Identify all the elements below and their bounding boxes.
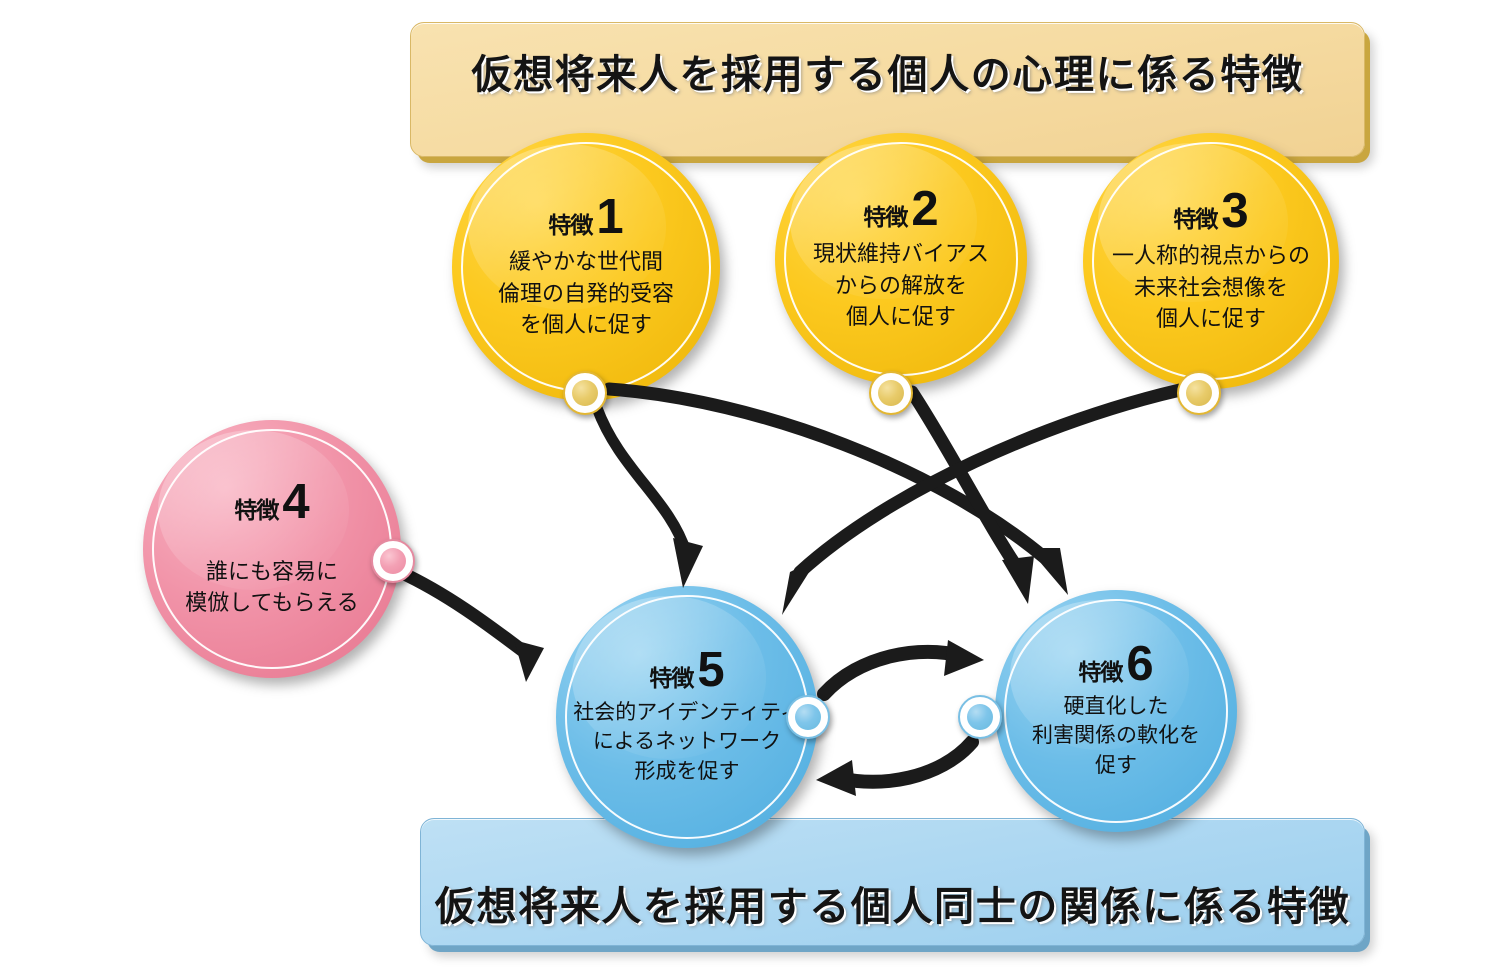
connector-knob-node-4[interactable]	[371, 539, 415, 583]
node-feature-6-line-2: 利害関係の軟化を	[1032, 721, 1200, 751]
banner-relationship: 仮想将来人を採用する個人同士の関係に係る特徴	[420, 818, 1365, 946]
node-feature-3-number: 3	[1221, 188, 1248, 235]
node-feature-6[interactable]: 特徴 6 硬直化した 利害関係の軟化を 促す	[995, 590, 1237, 832]
connector-knob-node-6[interactable]	[958, 695, 1002, 739]
connector-knob-node-3[interactable]	[1177, 371, 1221, 415]
node-feature-2-line-3: 個人に促す	[813, 301, 989, 332]
arrow-6-to-5	[816, 742, 972, 796]
node-feature-6-keyword: 特徴	[1078, 653, 1122, 687]
connector-knob-node-6-core	[967, 704, 993, 730]
node-feature-4-number: 4	[282, 479, 309, 526]
node-feature-3-heading: 特徴 3	[1173, 188, 1248, 235]
node-feature-5-line-2: によるネットワーク	[573, 727, 800, 757]
arrow-1-to-6	[609, 389, 1068, 595]
node-feature-1-line-1: 緩やかな世代間	[498, 246, 674, 277]
node-feature-1-line-2: 倫理の自発的受容	[498, 278, 674, 309]
node-feature-2[interactable]: 特徴 2 現状維持バイアス からの解放を 個人に促す	[775, 133, 1027, 385]
arrow-4-to-5	[400, 572, 544, 682]
node-feature-2-number: 2	[911, 186, 938, 233]
arrow-5-to-6	[824, 640, 984, 694]
connector-knob-node-1[interactable]	[563, 371, 607, 415]
node-feature-5-line-1: 社会的アイデンティティ	[573, 698, 800, 728]
node-feature-3-body: 一人称的視点からの 未来社会想像を 個人に促す	[1102, 240, 1320, 334]
connector-knob-node-3-core	[1186, 380, 1212, 406]
banner-psychology-label: 仮想将来人を採用する個人の心理に係る特徴	[472, 42, 1304, 138]
node-feature-5-body: 社会的アイデンティティ によるネットワーク 形成を促す	[563, 698, 810, 787]
node-feature-1-number: 1	[596, 194, 623, 241]
node-feature-4-line-2: 模倣してもらえる	[185, 587, 359, 618]
node-feature-2-keyword: 特徴	[863, 198, 907, 232]
connector-knob-node-2[interactable]	[869, 371, 913, 415]
node-feature-4[interactable]: 特徴 4 誰にも容易に 模倣してもらえる	[143, 420, 401, 678]
node-feature-3-line-2: 未来社会想像を	[1112, 272, 1310, 303]
node-feature-3-line-1: 一人称的視点からの	[1112, 240, 1310, 271]
node-feature-5-keyword: 特徴	[649, 659, 693, 693]
node-feature-6-line-1: 硬直化した	[1032, 692, 1200, 722]
node-feature-3-line-3: 個人に促す	[1112, 303, 1310, 334]
connector-knob-node-5[interactable]	[786, 695, 830, 739]
node-feature-5-number: 5	[697, 647, 724, 694]
node-feature-3-keyword: 特徴	[1173, 200, 1217, 234]
arrow-3-to-5	[782, 390, 1180, 615]
node-feature-2-line-1: 現状維持バイアス	[813, 238, 989, 269]
node-feature-6-heading: 特徴 6	[1078, 641, 1153, 688]
node-feature-3[interactable]: 特徴 3 一人称的視点からの 未来社会想像を 個人に促す	[1083, 133, 1339, 389]
node-feature-1-line-3: を個人に促す	[498, 309, 674, 340]
node-feature-5[interactable]: 特徴 5 社会的アイデンティティ によるネットワーク 形成を促す	[556, 586, 818, 848]
connector-knob-node-4-core	[380, 548, 406, 574]
node-feature-4-keyword: 特徴	[234, 491, 278, 525]
connector-knob-node-5-core	[795, 704, 821, 730]
arrow-2-to-6	[912, 392, 1034, 604]
node-feature-4-line-1: 誰にも容易に	[185, 556, 359, 587]
node-feature-1-body: 緩やかな世代間 倫理の自発的受容 を個人に促す	[488, 246, 684, 340]
node-feature-2-heading: 特徴 2	[863, 186, 938, 233]
arrow-1-to-5	[597, 408, 703, 588]
node-feature-6-line-3: 促す	[1032, 751, 1200, 781]
node-feature-5-line-3: 形成を促す	[573, 757, 800, 787]
connector-knob-node-2-core	[878, 380, 904, 406]
node-feature-5-heading: 特徴 5	[649, 647, 724, 694]
node-feature-1-heading: 特徴 1	[548, 194, 623, 241]
node-feature-1[interactable]: 特徴 1 緩やかな世代間 倫理の自発的受容 を個人に促す	[452, 133, 720, 401]
node-feature-6-number: 6	[1126, 641, 1153, 688]
node-feature-6-body: 硬直化した 利害関係の軟化を 促す	[1022, 692, 1210, 781]
connector-knob-node-1-core	[572, 380, 598, 406]
node-feature-4-body: 誰にも容易に 模倣してもらえる	[175, 556, 369, 618]
node-feature-4-heading: 特徴 4	[234, 479, 309, 526]
banner-relationship-label: 仮想将来人を採用する個人同士の関係に係る特徴	[435, 832, 1350, 932]
node-feature-2-line-2: からの解放を	[813, 270, 989, 301]
node-feature-2-body: 現状維持バイアス からの解放を 個人に促す	[803, 238, 999, 332]
diagram-canvas: 仮想将来人を採用する個人の心理に係る特徴 仮想将来人を採用する個人同士の関係に係…	[0, 0, 1500, 967]
node-feature-1-keyword: 特徴	[548, 206, 592, 240]
